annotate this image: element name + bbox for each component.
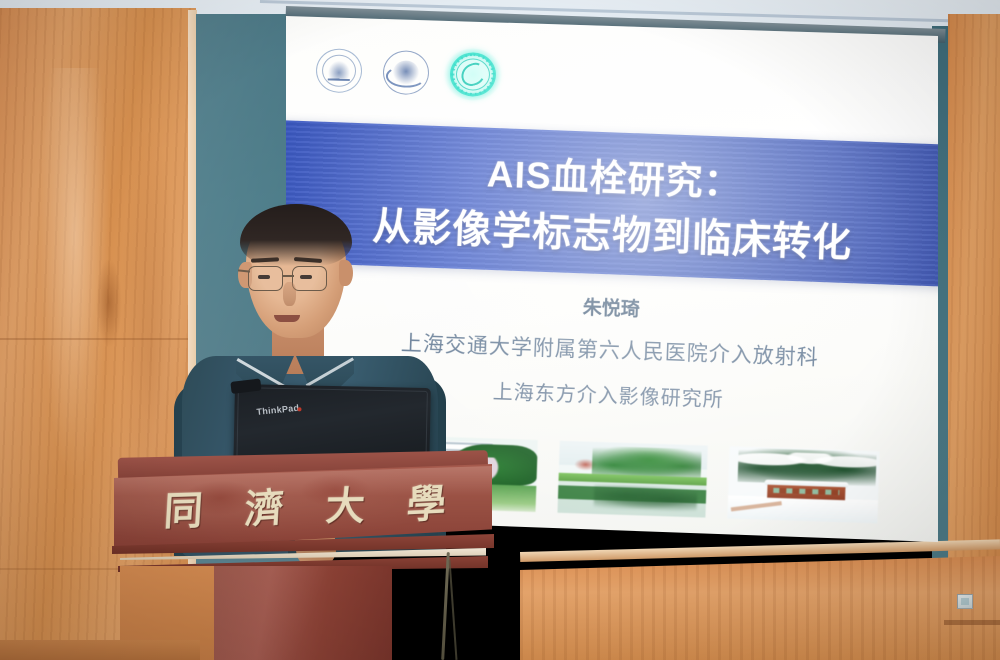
podium-pedestal-sheen: [214, 566, 392, 660]
podium-char-1: 同: [162, 480, 204, 537]
podium-cable-secondary: [449, 560, 458, 660]
wood-panel-seam: [0, 338, 196, 340]
university-emblem-1-icon: [309, 44, 368, 98]
presentation-photo-scene: AIS血栓研究： 从影像学标志物到临床转化 朱悦琦 上海交通大学附属第六人民医院…: [0, 0, 1000, 660]
podium-char-2: 濟: [243, 477, 285, 536]
slide-title-line-1: AIS血栓研究：: [486, 143, 742, 206]
mouth: [274, 315, 300, 322]
wood-knot: [96, 258, 122, 348]
hospital-emblem-2-icon: [376, 46, 435, 100]
nose: [283, 282, 296, 306]
campus-photo-lake-reflection: [557, 441, 707, 518]
podium-char-4: 學: [405, 473, 447, 531]
institute-emblem-3-icon: [443, 48, 502, 102]
campus-photo-winter-snow: [727, 446, 879, 523]
wood-wall-lower-right: [520, 556, 1000, 660]
podium-university-name: 同 濟 大 學: [149, 470, 461, 541]
light-switch-plate[interactable]: [957, 594, 973, 609]
ear-right: [339, 260, 353, 286]
eyeglasses-lens-left: [248, 266, 283, 291]
wood-trim-right: [944, 620, 1000, 625]
slide-logo-row: [309, 41, 531, 105]
floor-strip-left: [0, 640, 200, 660]
podium-char-3: 大: [324, 476, 366, 533]
eyeglasses-bridge: [282, 275, 294, 277]
eyeglasses-lens-right: [292, 266, 327, 291]
